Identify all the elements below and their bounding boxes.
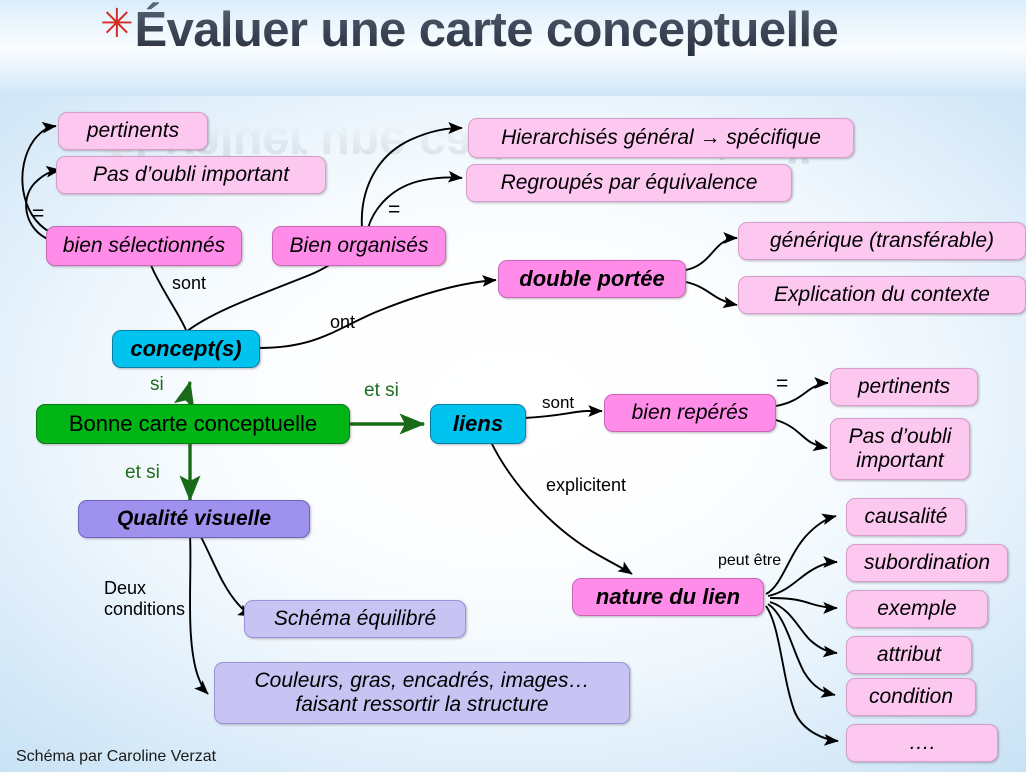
node-regroupes[interactable]: Regroupés par équivalence	[466, 164, 792, 202]
node-double-portee[interactable]: double portée	[498, 260, 686, 298]
node-causalite[interactable]: causalité	[846, 498, 966, 536]
edge-label-sont-left: sont	[172, 273, 206, 294]
node-bonne-carte-conceptuelle[interactable]: Bonne carte conceptuelle	[36, 404, 350, 444]
node-pertinents-right[interactable]: pertinents	[830, 368, 978, 406]
node-liens[interactable]: liens	[430, 404, 526, 444]
node-explication-contexte[interactable]: Explication du contexte	[738, 276, 1026, 314]
node-bien-organises[interactable]: Bien organisés	[272, 226, 446, 266]
node-pas-doubli-important-top[interactable]: Pas d’oubli important	[56, 156, 326, 194]
edge-label-si: si	[150, 374, 164, 396]
node-nature-du-lien[interactable]: nature du lien	[572, 578, 764, 616]
node-etc[interactable]: ….	[846, 724, 998, 762]
edge-label-deux-conditions: Deux conditions	[104, 578, 185, 620]
credit-text: Schéma par Caroline Verzat	[16, 748, 216, 766]
edge-label-peut-etre: peut être	[718, 552, 781, 571]
page-title-text: Évaluer une carte conceptuelle	[135, 2, 839, 58]
slide-canvas: ✳ Évaluer une carte conceptuelle ✳ Évalu…	[0, 0, 1026, 772]
node-qualite-visuelle[interactable]: Qualité visuelle	[78, 500, 310, 538]
node-hierarchises[interactable]: Hierarchisés général → spécifique	[468, 118, 854, 158]
node-concepts[interactable]: concept(s)	[112, 330, 260, 368]
edge-label-et-si-down: et si	[125, 462, 160, 484]
node-couleurs-gras[interactable]: Couleurs, gras, encadrés, images… faisan…	[214, 662, 630, 724]
page-title: ✳ Évaluer une carte conceptuelle	[100, 2, 838, 58]
node-pertinents-top[interactable]: pertinents	[58, 112, 208, 150]
edge-label-equals-left: =	[32, 202, 44, 226]
node-generique[interactable]: générique (transférable)	[738, 222, 1026, 260]
edge-label-sont-right: sont	[542, 393, 574, 413]
edge-label-explicitent: explicitent	[546, 475, 626, 496]
asterisk-icon: ✳	[100, 4, 134, 44]
edge-label-ont: ont	[330, 312, 355, 333]
node-subordination[interactable]: subordination	[846, 544, 1008, 582]
edge-label-equals-mid: =	[388, 198, 400, 222]
node-bien-reperes[interactable]: bien repérés	[604, 394, 776, 432]
title-band: ✳ Évaluer une carte conceptuelle ✳ Évalu…	[0, 0, 1026, 96]
node-pas-doubli-important-right[interactable]: Pas d’oubli important	[830, 418, 970, 480]
node-exemple[interactable]: exemple	[846, 590, 988, 628]
node-condition[interactable]: condition	[846, 678, 976, 716]
node-schema-equilibre[interactable]: Schéma équilibré	[244, 600, 466, 638]
node-attribut[interactable]: attribut	[846, 636, 972, 674]
node-bien-selectionnes[interactable]: bien sélectionnés	[46, 226, 242, 266]
edge-label-equals-right: =	[776, 372, 788, 396]
edge-label-et-si-right: et si	[364, 380, 399, 402]
